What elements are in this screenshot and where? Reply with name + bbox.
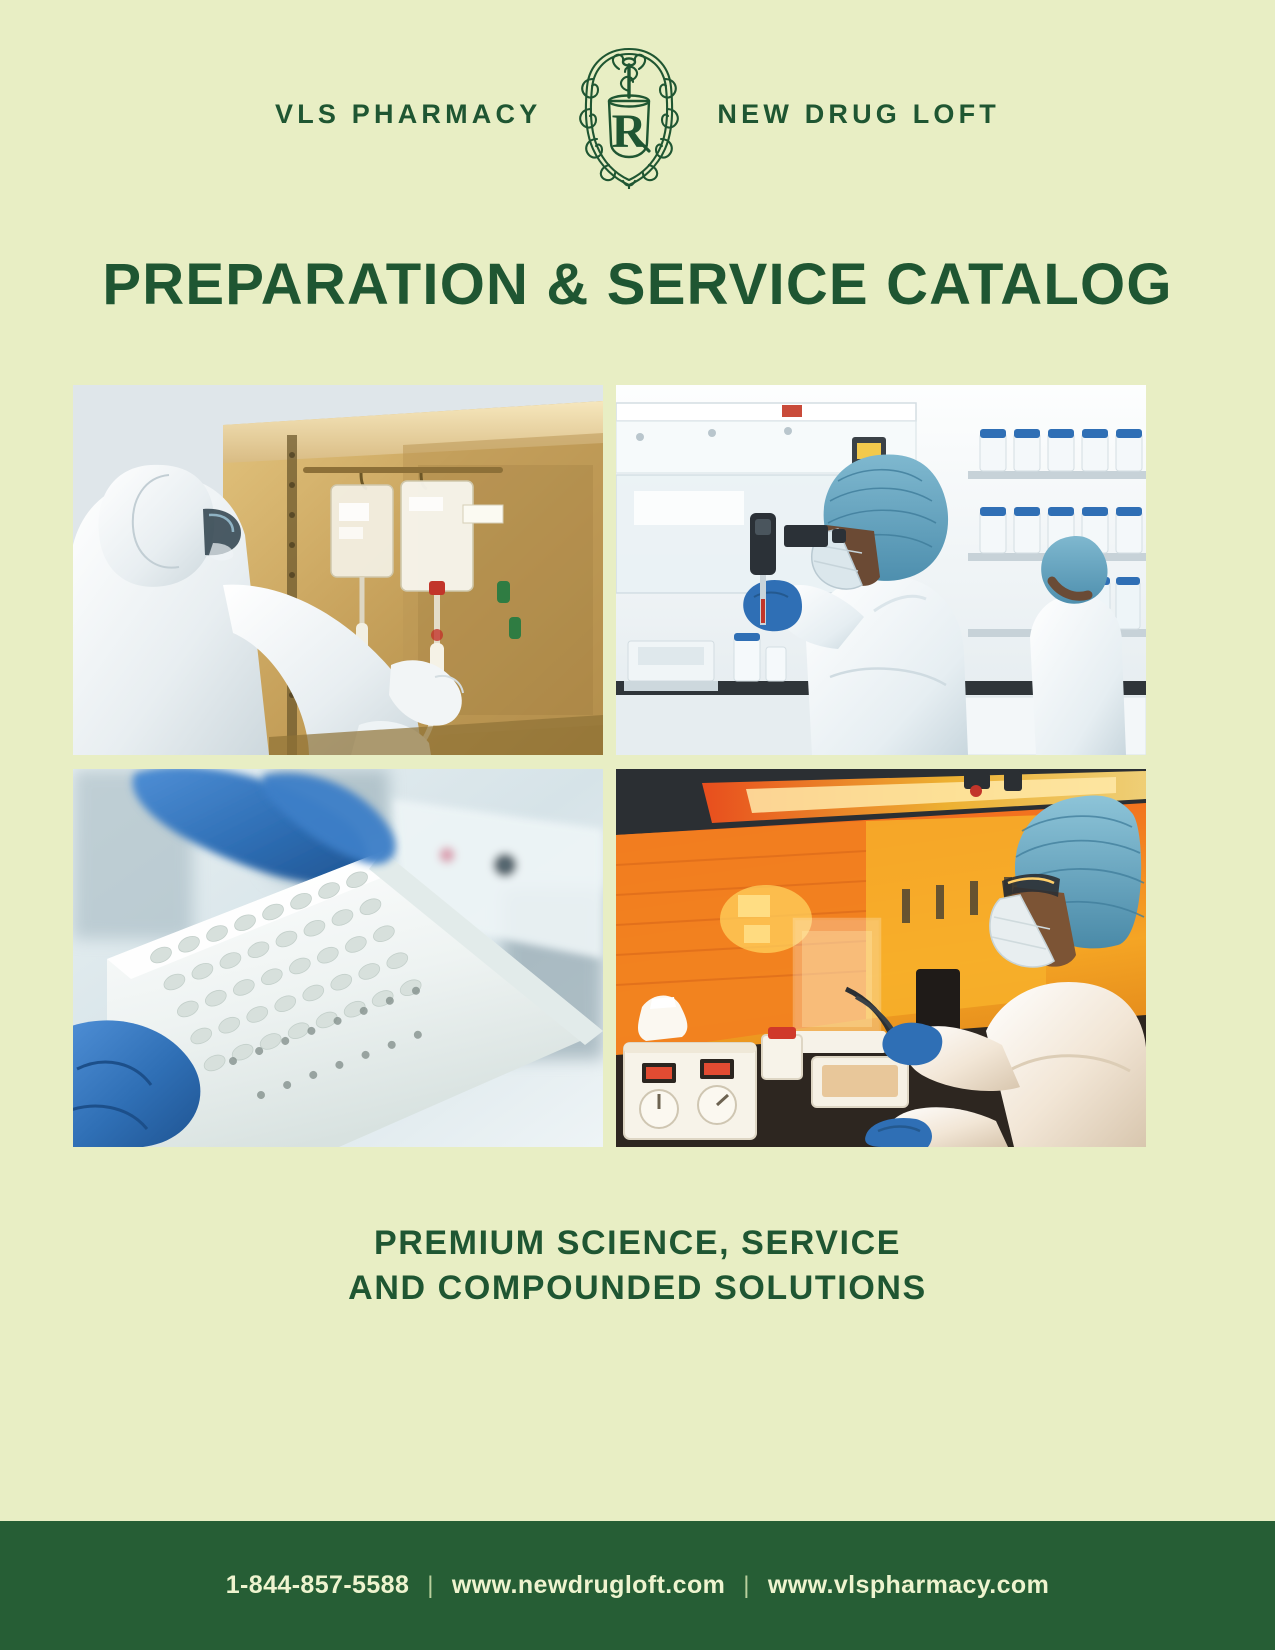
photo-grid: [73, 385, 1202, 1147]
page-title: PREPARATION & SERVICE CATALOG: [102, 255, 1172, 316]
tagline-block: PREMIUM SCIENCE, SERVICE AND COMPOUNDED …: [0, 1221, 1275, 1311]
photo-capsule-mold-tray: [73, 769, 603, 1147]
photo-lab-technicians-pipetting: [616, 385, 1146, 755]
brand-name-left: VLS PHARMACY: [275, 101, 541, 128]
footer-website-newdrugloft[interactable]: www.newdrugloft.com: [452, 1571, 725, 1600]
svg-text:R: R: [612, 105, 648, 158]
brand-header: VLS PHARMACY: [0, 0, 1275, 228]
tagline-line-2: AND COMPOUNDED SOLUTIONS: [0, 1266, 1275, 1311]
photo-amber-fume-hood-weighing: [616, 769, 1146, 1147]
footer-separator-1: |: [409, 1572, 452, 1600]
photo-cleanroom-iv-compounding: [73, 385, 603, 755]
catalog-cover-page: VLS PHARMACY: [0, 0, 1275, 1650]
footer-separator-2: |: [725, 1572, 768, 1600]
footer-website-vlspharmacy[interactable]: www.vlspharmacy.com: [768, 1571, 1049, 1600]
brand-name-right: NEW DRUG LOFT: [717, 101, 1000, 128]
title-block: PREPARATION & SERVICE CATALOG: [0, 228, 1275, 343]
footer-phone[interactable]: 1-844-857-5588: [226, 1571, 410, 1600]
footer-bar: 1-844-857-5588 | www.newdrugloft.com | w…: [0, 1521, 1275, 1650]
tagline-line-1: PREMIUM SCIENCE, SERVICE: [0, 1221, 1275, 1266]
pharmacy-crest-rx-icon: R: [563, 39, 695, 189]
footer-contact-row: 1-844-857-5588 | www.newdrugloft.com | w…: [226, 1571, 1049, 1600]
